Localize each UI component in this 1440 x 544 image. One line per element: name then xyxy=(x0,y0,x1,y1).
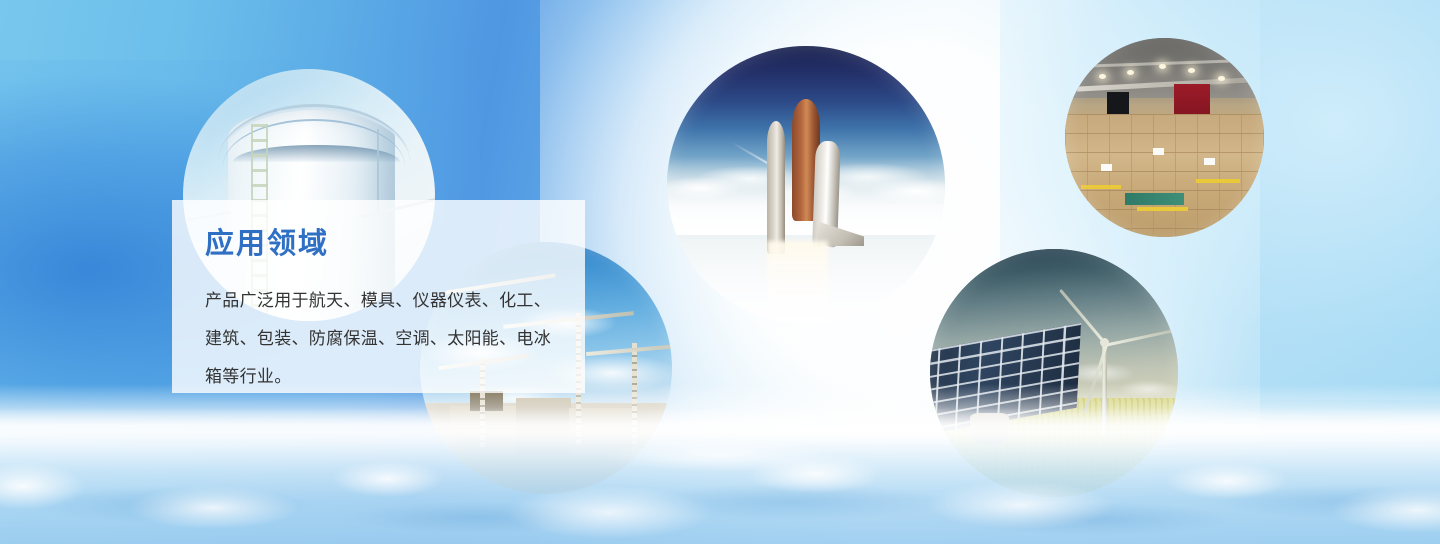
warehouse-box-label-2 xyxy=(1153,148,1164,155)
panel-description: 产品广泛用于航天、模具、仪器仪表、化工、建筑、包装、防腐保温、空调、太阳能、电冰… xyxy=(205,282,560,396)
warehouse-carton-stacks xyxy=(1065,114,1264,237)
circle-space-shuttle-launch xyxy=(667,46,945,324)
warehouse-box-label-1 xyxy=(1101,164,1112,171)
application-fields-banner: 应用领域 产品广泛用于航天、模具、仪器仪表、化工、建筑、包装、防腐保温、空调、太… xyxy=(0,0,1440,544)
warehouse-lamp-1 xyxy=(1099,74,1106,79)
cloud-puffs xyxy=(0,438,1440,544)
warehouse-lamp-3 xyxy=(1159,64,1166,69)
shuttle-solid-rocket-booster xyxy=(767,121,785,254)
warehouse-strap-2 xyxy=(1137,207,1189,211)
warehouse-strap-3 xyxy=(1196,179,1240,183)
warehouse-box-label-3 xyxy=(1204,158,1215,165)
warehouse-lamp-2 xyxy=(1127,70,1134,75)
shuttle-exhaust-plume xyxy=(767,241,828,324)
circle-warehouse-cartons xyxy=(1065,38,1264,237)
warehouse-lamp-5 xyxy=(1218,76,1225,81)
application-fields-panel: 应用领域 产品广泛用于航天、模具、仪器仪表、化工、建筑、包装、防腐保温、空调、太… xyxy=(172,200,585,393)
warehouse-green-pallet xyxy=(1125,193,1185,205)
warehouse-strap-1 xyxy=(1081,185,1121,189)
page-title: 应用领域 xyxy=(205,220,329,262)
